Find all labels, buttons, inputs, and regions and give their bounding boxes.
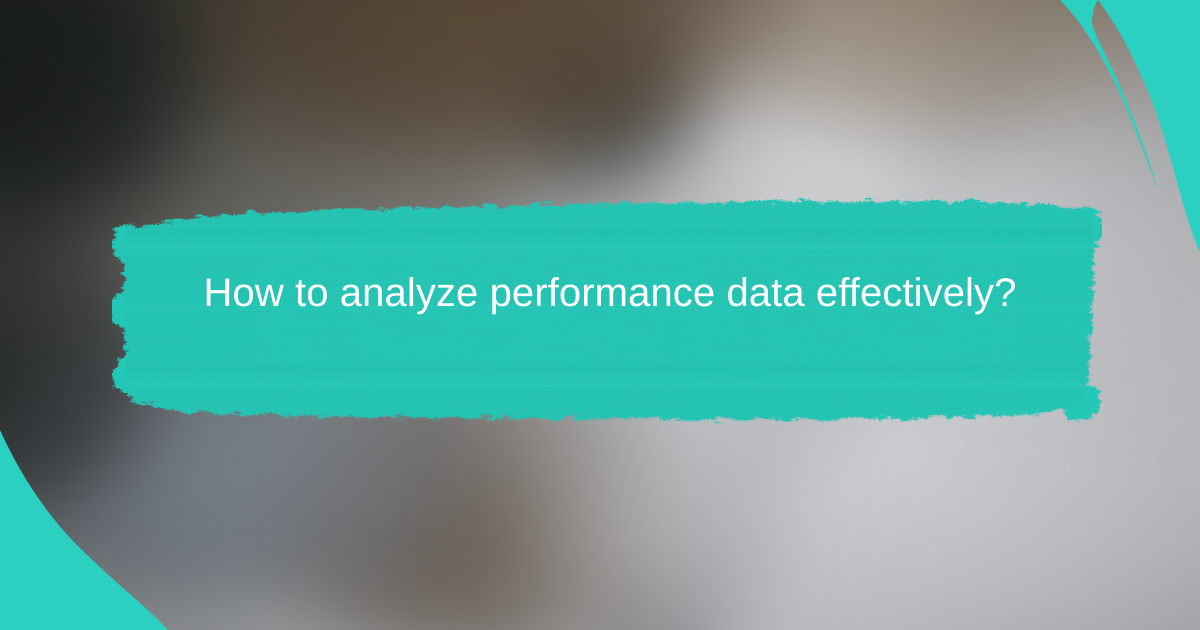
page-title: How to analyze performance data effectiv… — [150, 266, 1070, 321]
hero-card: How to analyze performance data effectiv… — [0, 0, 1200, 630]
